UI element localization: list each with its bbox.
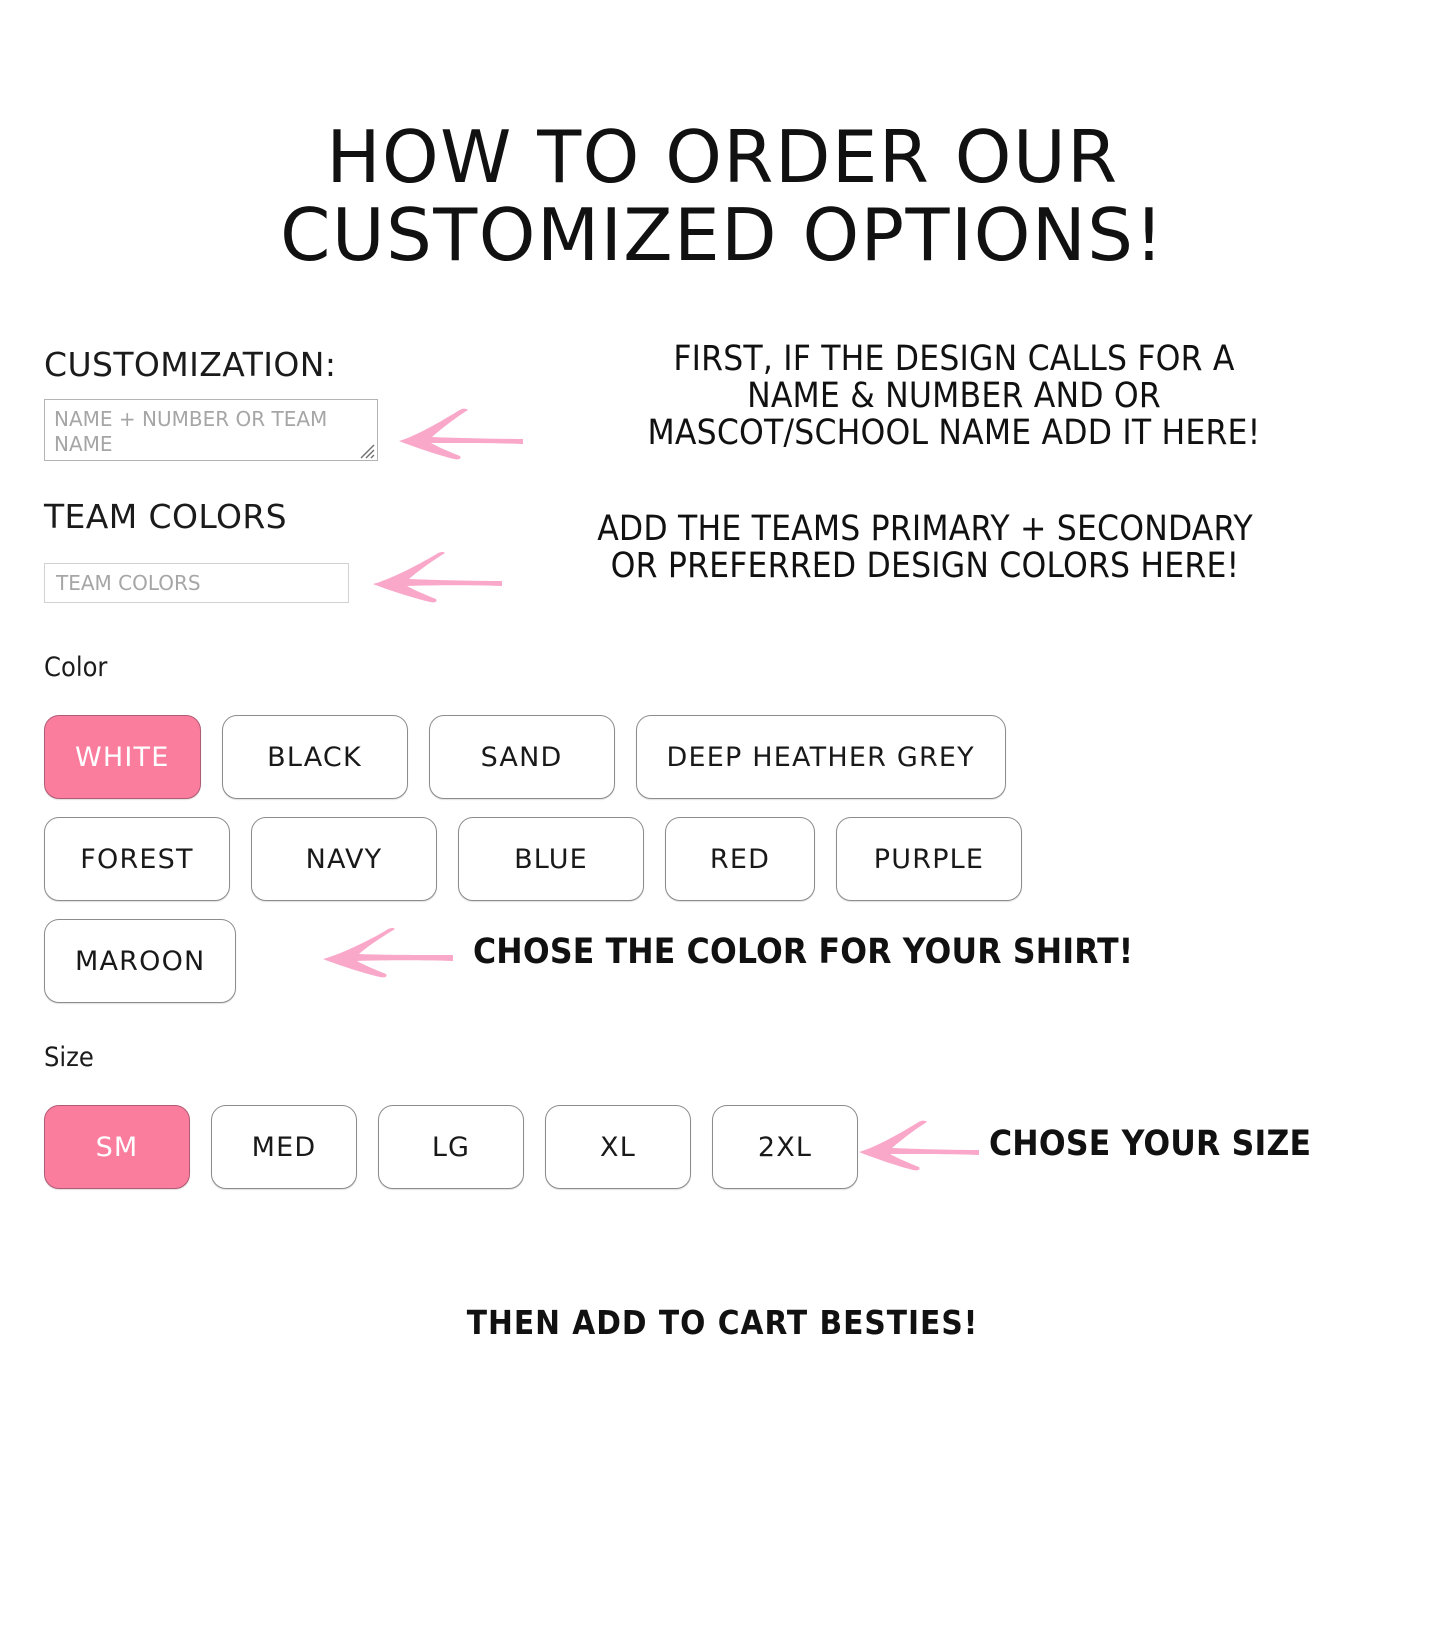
- size-options: SM MED LG XL 2XL: [44, 1105, 864, 1207]
- color-group-label: Color: [44, 652, 107, 683]
- color-option-white[interactable]: WHITE: [44, 715, 201, 799]
- note-footer: THEN ADD TO CART BESTIES!: [0, 1303, 1445, 1342]
- page-title: HOW TO ORDER OUR CUSTOMIZED OPTIONS!: [0, 118, 1445, 274]
- color-option-red[interactable]: RED: [665, 817, 815, 901]
- color-option-blue[interactable]: BLUE: [458, 817, 644, 901]
- arrow-left-size-icon: [857, 1120, 980, 1172]
- team-colors-input[interactable]: [44, 563, 349, 603]
- arrow-left-customization-icon: [396, 408, 524, 460]
- color-row-1: WHITE BLACK SAND DEEP HEATHER GREY: [44, 715, 1204, 799]
- size-option-med[interactable]: MED: [211, 1105, 357, 1189]
- note-customization: FIRST, IF THE DESIGN CALLS FOR A NAME & …: [545, 341, 1363, 452]
- color-option-deep-heather-grey[interactable]: DEEP HEATHER GREY: [636, 715, 1006, 799]
- color-option-maroon[interactable]: MAROON: [44, 919, 236, 1003]
- size-row-1: SM MED LG XL 2XL: [44, 1105, 864, 1189]
- size-group-label: Size: [44, 1042, 94, 1073]
- note-color: CHOSE THE COLOR FOR YOUR SHIRT!: [473, 932, 1133, 972]
- note-size: CHOSE YOUR SIZE: [989, 1124, 1311, 1164]
- size-option-xl[interactable]: XL: [545, 1105, 691, 1189]
- color-option-purple[interactable]: PURPLE: [836, 817, 1022, 901]
- color-option-navy[interactable]: NAVY: [251, 817, 437, 901]
- color-option-forest[interactable]: FOREST: [44, 817, 230, 901]
- size-option-lg[interactable]: LG: [378, 1105, 524, 1189]
- customization-label: CUSTOMIZATION:: [44, 345, 336, 384]
- size-option-sm[interactable]: SM: [44, 1105, 190, 1189]
- customization-textarea[interactable]: [44, 399, 378, 461]
- color-option-black[interactable]: BLACK: [222, 715, 408, 799]
- team-colors-label: TEAM COLORS: [44, 497, 287, 536]
- size-option-2xl[interactable]: 2XL: [712, 1105, 858, 1189]
- color-row-2: FOREST NAVY BLUE RED PURPLE: [44, 817, 1204, 901]
- color-options: WHITE BLACK SAND DEEP HEATHER GREY FORES…: [44, 715, 1204, 1021]
- note-team-colors: ADD THE TEAMS PRIMARY + SECONDARY OR PRE…: [487, 511, 1363, 585]
- color-option-sand[interactable]: SAND: [429, 715, 615, 799]
- arrow-left-team-colors-icon: [369, 552, 503, 604]
